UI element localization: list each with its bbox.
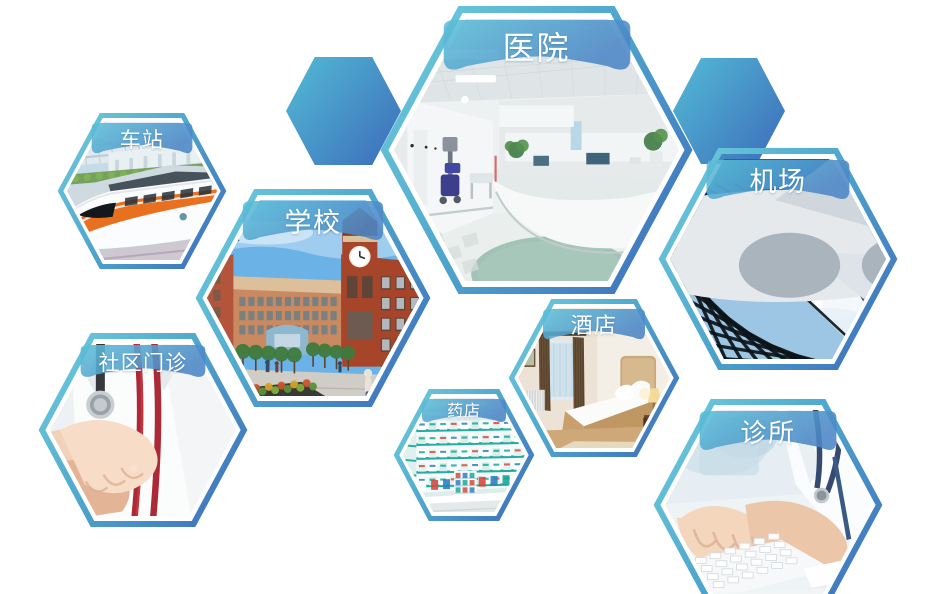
hexagon-photo-pharmacy [394, 389, 534, 521]
hexagon-tile-community-clinic[interactable]: 社区门诊 [39, 333, 247, 527]
hexagon-tile-clinic[interactable]: 诊所 [654, 399, 882, 594]
hexagon-photo-hospital [381, 6, 692, 311]
hexagon-collage-canvas: 车站学校医院机场社区门诊酒店药店诊所 [0, 0, 948, 594]
hexagon-tile-hospital[interactable]: 医院 [381, 6, 692, 294]
hexagon-tile-airport[interactable]: 机场 [659, 148, 897, 370]
hexagon-tile-pharmacy[interactable]: 药店 [394, 389, 534, 521]
hexagon-photo-clinic [649, 395, 886, 594]
hexagon-photo-community-clinic [18, 329, 247, 527]
